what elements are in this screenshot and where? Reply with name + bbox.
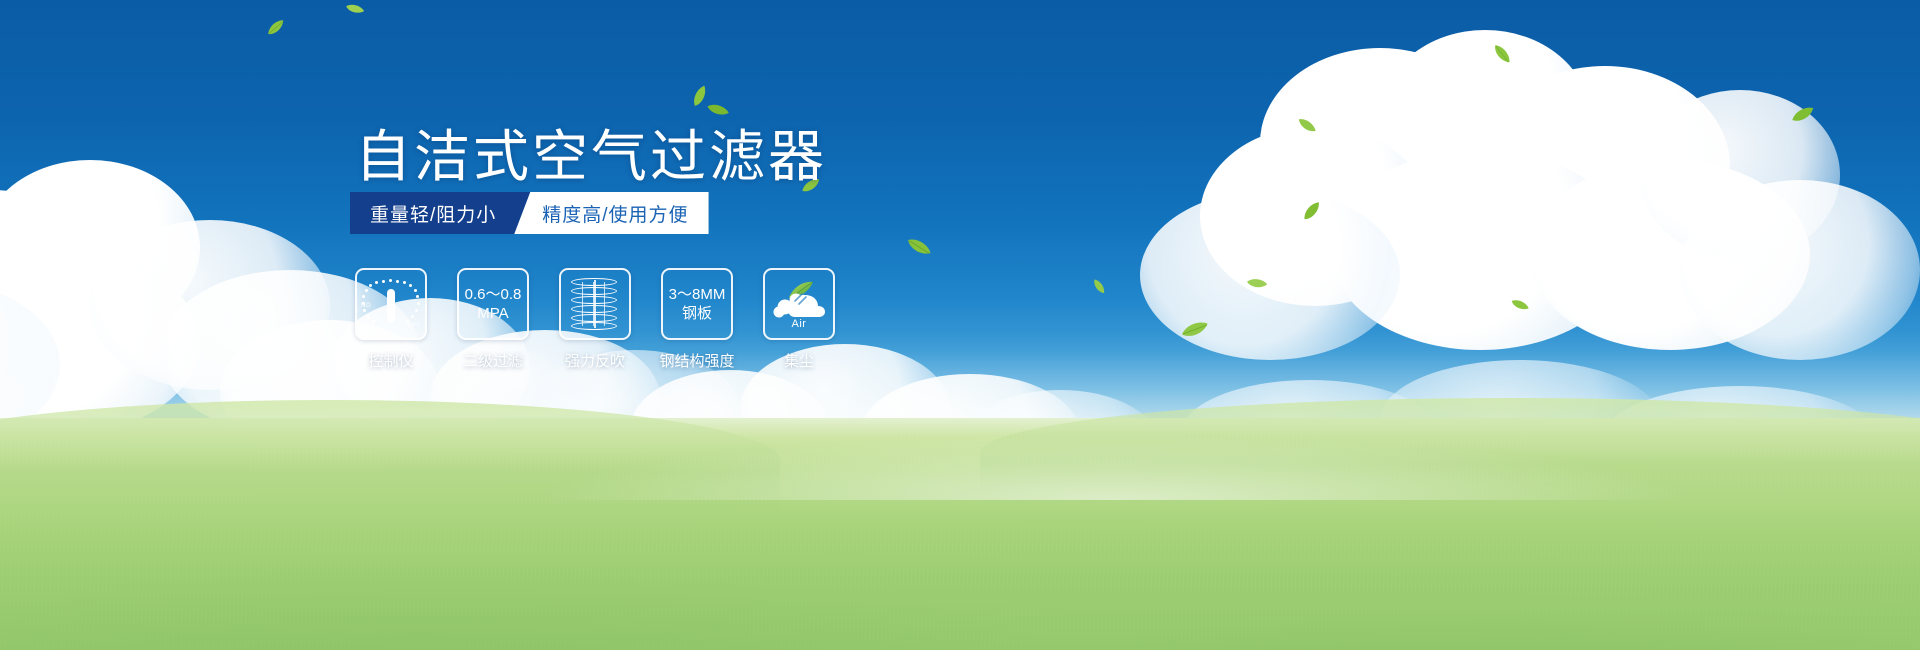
cloud-air-icon: Air: [769, 279, 829, 329]
feature-icon-box: [559, 268, 631, 340]
feature-caption: 控制仪: [368, 350, 413, 371]
feature-caption: 钢结构强度: [659, 350, 734, 371]
gauge-needle: [387, 289, 395, 323]
feature-caption: 集尘: [784, 350, 814, 371]
feature-caption: 强力反吹: [565, 350, 625, 371]
feature-icon-box: Air: [763, 268, 835, 340]
filter-coil-icon: [571, 278, 619, 330]
feature-value-line1: 3～8MM: [669, 285, 726, 304]
feature-item-pressure[interactable]: 0.6～0.8 MPA 二级过滤: [454, 268, 532, 371]
subtitle-tab-group: 重量轻/阻力小 精度高/使用方便: [350, 192, 709, 234]
feature-value-line1: 0.6～0.8: [465, 285, 522, 304]
feature-icon-box: NO OFF: [355, 268, 427, 340]
subtitle-tab-2[interactable]: 精度高/使用方便: [514, 192, 708, 234]
feature-value-line2: MPA: [477, 304, 508, 323]
air-label: Air: [769, 318, 829, 330]
feature-icon-box: 0.6～0.8 MPA: [457, 268, 529, 340]
page-title: 自洁式空气过滤器: [355, 112, 827, 193]
gauge-label-off: OFF: [408, 323, 422, 329]
feature-item-control-gauge[interactable]: NO OFF: [352, 268, 430, 371]
feature-caption: 二级过滤: [463, 350, 523, 371]
feature-item-dust-collect[interactable]: Air 集尘: [760, 268, 838, 371]
gauge-dial-icon: NO OFF: [362, 277, 420, 331]
feature-item-backblow[interactable]: 强力反吹: [556, 268, 634, 371]
subtitle-tab-1[interactable]: 重量轻/阻力小: [350, 192, 530, 234]
feature-list: NO OFF: [352, 268, 838, 371]
feature-value-line2: 钢板: [682, 304, 712, 323]
feature-item-steel[interactable]: 3～8MM 钢板 钢结构强度: [658, 268, 736, 371]
hero-banner: 自洁式空气过滤器 重量轻/阻力小 精度高/使用方便 NO OFF: [0, 0, 1920, 650]
banner-content: 自洁式空气过滤器 重量轻/阻力小 精度高/使用方便 NO OFF: [0, 0, 1920, 650]
feature-icon-box: 3～8MM 钢板: [661, 268, 733, 340]
